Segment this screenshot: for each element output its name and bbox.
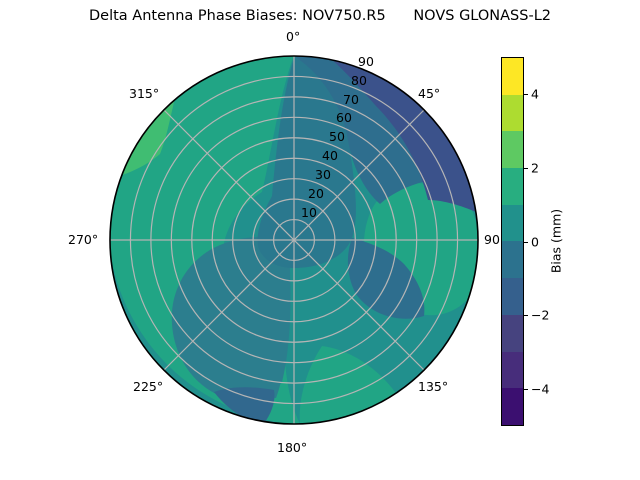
colorbar-tick-label-1: 2 bbox=[531, 160, 539, 175]
colorbar-tick-mark-2 bbox=[524, 242, 528, 243]
theta-tick-label-270: 270° bbox=[68, 232, 98, 247]
r-tick-label-40: 40 bbox=[322, 148, 338, 163]
colorbar-tick-mark-4 bbox=[524, 389, 528, 390]
figure-canvas: Delta Antenna Phase Biases: NOV750.R5 NO… bbox=[0, 0, 640, 480]
polar-skyplot: 0° 45° 90 135° 180° 225° 270° 315° 10 20… bbox=[0, 0, 640, 480]
colorbar-tick-mark-1 bbox=[524, 168, 528, 169]
r-tick-label-60: 60 bbox=[336, 110, 352, 125]
colorbar-axis-label: Bias (mm) bbox=[549, 209, 564, 273]
r-tick-label-30: 30 bbox=[315, 167, 331, 182]
polar-grid-group bbox=[110, 56, 478, 424]
theta-tick-label-0: 0° bbox=[286, 29, 300, 44]
colorbar-band-8 bbox=[502, 352, 523, 389]
colorbar-band-2 bbox=[502, 131, 523, 168]
colorbar-band-0 bbox=[502, 58, 523, 95]
r-tick-label-50: 50 bbox=[329, 129, 345, 144]
colorbar-tick-mark-0 bbox=[524, 94, 528, 95]
r-tick-label-90: 90 bbox=[358, 54, 374, 69]
r-tick-label-70: 70 bbox=[343, 92, 359, 107]
r-tick-label-10: 10 bbox=[301, 205, 317, 220]
theta-tick-label-315: 315° bbox=[129, 86, 159, 101]
theta-tick-label-225: 225° bbox=[133, 379, 163, 394]
colorbar-band-6 bbox=[502, 278, 523, 315]
colorbar-tick-label-2: 0 bbox=[531, 234, 539, 249]
theta-tick-label-90: 90 bbox=[484, 232, 500, 247]
theta-tick-label-135: 135° bbox=[418, 379, 448, 394]
colorbar-band-1 bbox=[502, 95, 523, 132]
r-tick-label-20: 20 bbox=[308, 186, 324, 201]
theta-tick-label-180: 180° bbox=[277, 440, 307, 455]
colorbar-band-4 bbox=[502, 205, 523, 242]
colorbar-tick-label-0: 4 bbox=[531, 86, 539, 101]
colorbar-gradient bbox=[501, 57, 524, 426]
r-tick-label-80: 80 bbox=[351, 73, 367, 88]
colorbar-band-5 bbox=[502, 241, 523, 278]
colorbar-band-9 bbox=[502, 388, 523, 425]
colorbar-tick-mark-3 bbox=[524, 315, 528, 316]
colorbar-band-7 bbox=[502, 315, 523, 352]
colorbar-band-3 bbox=[502, 168, 523, 205]
theta-tick-label-45: 45° bbox=[418, 86, 440, 101]
colorbar-tick-label-3: −2 bbox=[531, 308, 549, 323]
colorbar: 420−2−4 bbox=[501, 57, 524, 426]
colorbar-tick-label-4: −4 bbox=[531, 382, 549, 397]
